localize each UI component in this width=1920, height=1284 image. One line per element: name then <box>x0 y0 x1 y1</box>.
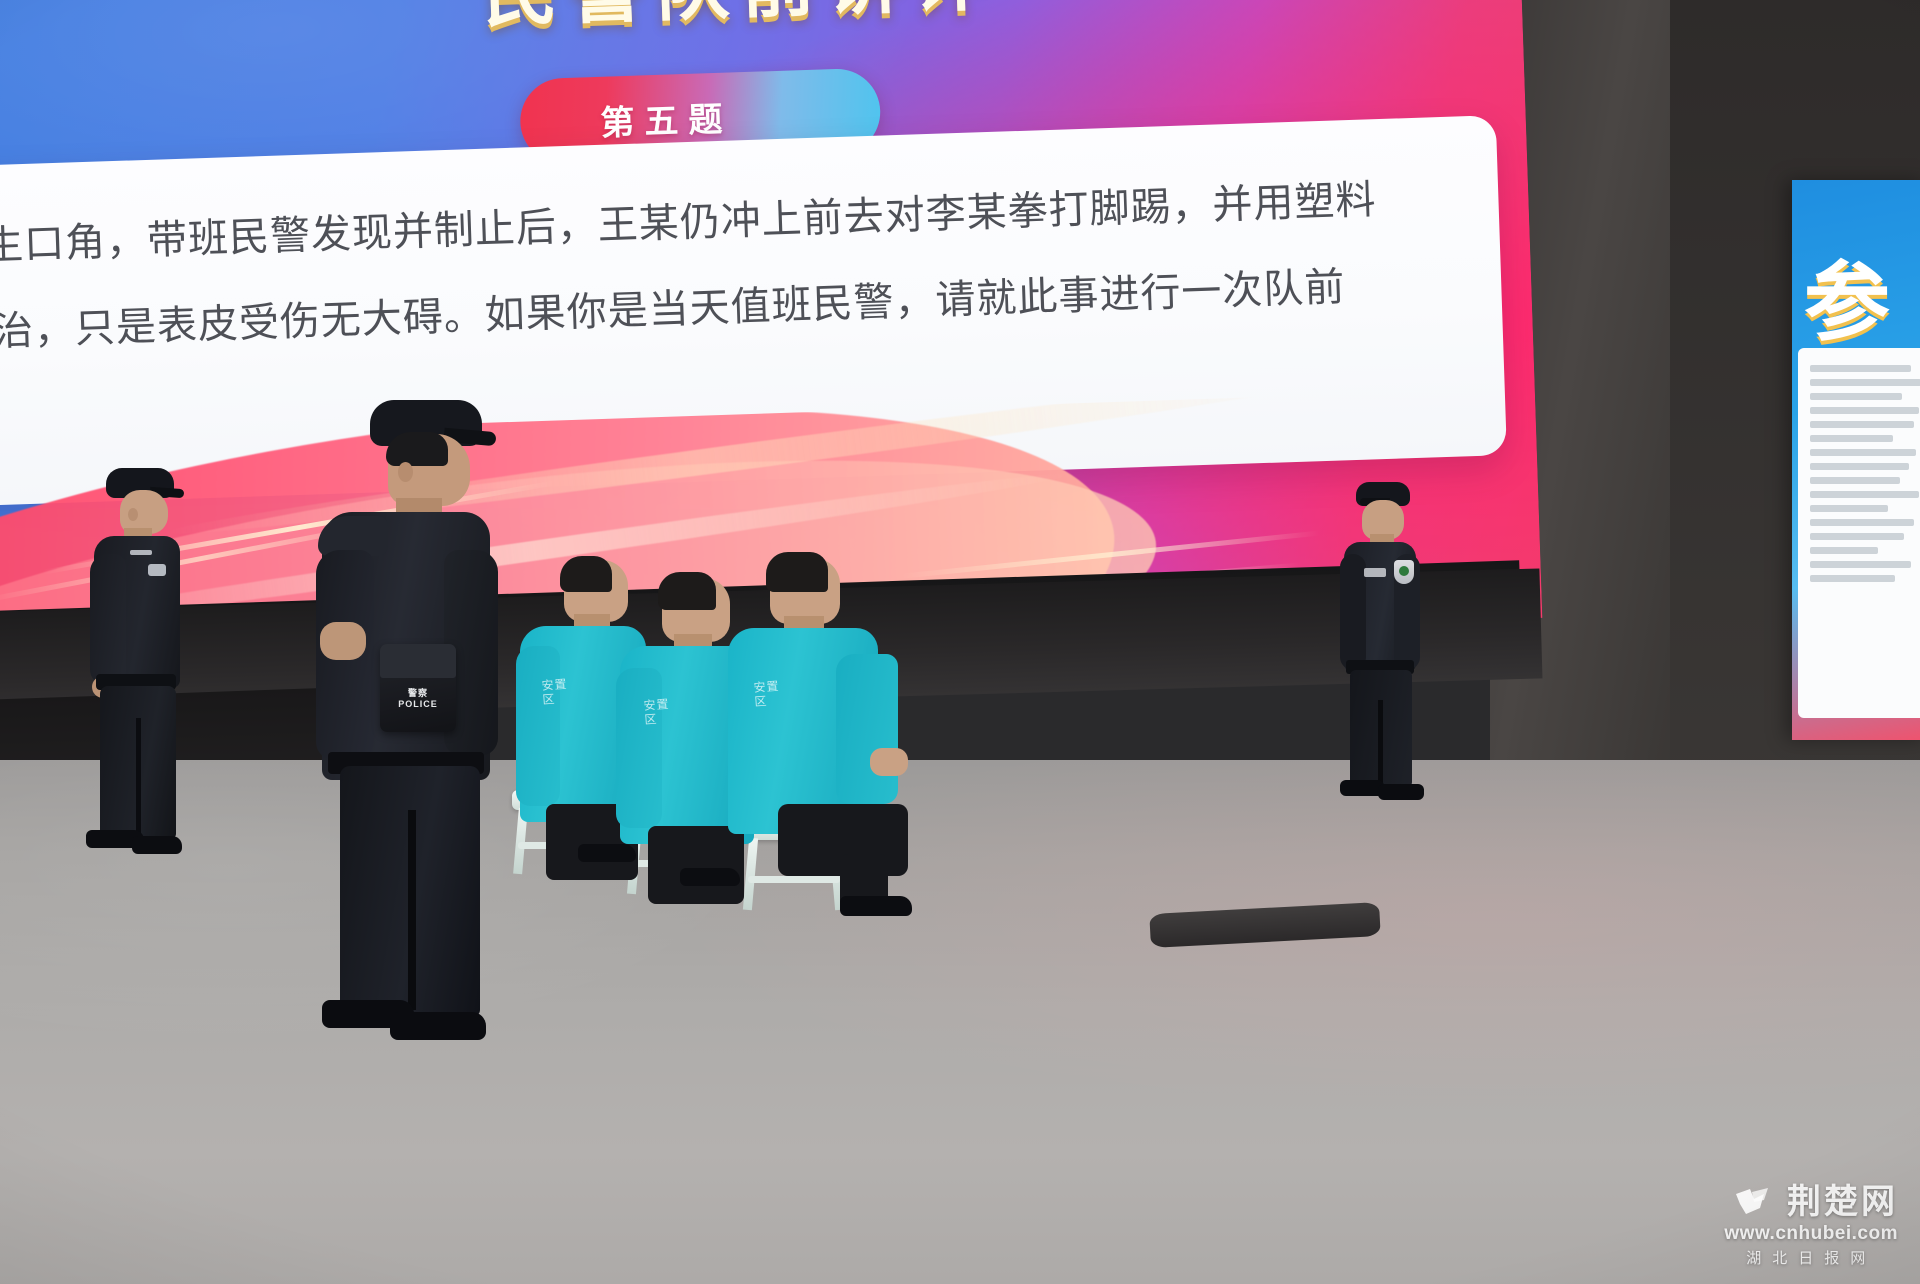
police-belt-pouch: 警察 POLICE <box>380 644 456 732</box>
hair <box>766 552 828 592</box>
name-tag <box>1364 568 1386 577</box>
right-vertical-banner: 参 <box>1792 180 1920 740</box>
arm-left <box>1340 554 1366 670</box>
hair <box>560 556 612 592</box>
banner-text-line <box>1810 547 1878 554</box>
left-standing-police-officer <box>78 468 198 858</box>
clasped-hands <box>320 622 366 660</box>
hair <box>386 432 448 466</box>
pouch-label-cn: 警察 <box>408 688 428 698</box>
right-standing-police-officer <box>1338 482 1426 812</box>
banner-text-line <box>1810 463 1909 470</box>
ear <box>398 462 413 482</box>
banner-text-line <box>1810 519 1914 526</box>
pouch-label-en: POLICE <box>398 699 438 709</box>
watermark-url: www.cnhubei.com <box>1724 1223 1898 1245</box>
banner-text-card <box>1798 348 1920 718</box>
shoe <box>1378 784 1424 800</box>
watermark-brand-row: 荆楚网 <box>1724 1185 1898 1219</box>
slide-text-lines: 员王某在生产车间与李某发生口角，带班民警发现并制止后，王某仍冲上前去对李某拳打脚… <box>0 115 1504 422</box>
watermark: 荆楚网 www.cnhubei.com 湖北日报网 <box>1724 1185 1898 1268</box>
banner-text-line <box>1810 407 1919 414</box>
floor-reflection <box>0 760 1920 1284</box>
banner-character: 参 <box>1804 232 1892 357</box>
watermark-name: 荆楚网 <box>1787 1185 1898 1219</box>
banner-text-line <box>1810 533 1904 540</box>
hand <box>870 748 908 776</box>
banner-text-line <box>1810 505 1888 512</box>
hair <box>658 572 716 610</box>
jacket-back-marking: 安置区 <box>643 697 671 727</box>
banner-text-line <box>1810 421 1914 428</box>
arm <box>616 668 662 828</box>
jacket-back-marking: 安置区 <box>753 679 781 709</box>
banner-text-line <box>1810 435 1893 442</box>
banner-text-line <box>1810 449 1916 456</box>
chest-badge-icon <box>148 564 166 576</box>
question-badge-label: 第五题 <box>600 91 734 144</box>
trouser-split <box>408 810 416 1010</box>
shoe <box>390 1012 486 1040</box>
shoulder-stripe <box>130 550 152 555</box>
pouch-flap <box>380 644 456 678</box>
photo-scene: 民警队前讲评 第五题 员王某在生产车间与李某发生口角，带班民警发现并制止后，王某… <box>0 0 1920 1284</box>
police-shield-icon <box>1394 560 1414 584</box>
cnhubei-logo-icon <box>1734 1186 1778 1218</box>
jacket-back-marking: 安置区 <box>541 677 569 707</box>
shoe <box>132 836 182 854</box>
ear <box>128 508 138 521</box>
arm <box>516 646 560 806</box>
banner-text-line <box>1810 491 1919 498</box>
banner-text-line <box>1810 379 1920 386</box>
trouser-split <box>136 718 141 836</box>
trouser-split <box>1378 700 1383 788</box>
arm <box>836 654 898 804</box>
shoe <box>840 896 912 916</box>
banner-text-line <box>1810 365 1911 372</box>
arm <box>90 554 126 684</box>
banner-text-line <box>1810 561 1911 568</box>
seated-man: 安置区 <box>728 558 928 918</box>
pouch-label: 警察 POLICE <box>384 688 452 710</box>
foreground-police-officer: 警察 POLICE <box>312 400 517 1040</box>
banner-text-line <box>1810 575 1895 582</box>
banner-text-line <box>1810 477 1900 484</box>
banner-text-line <box>1810 393 1902 400</box>
watermark-subtitle: 湖北日报网 <box>1724 1247 1898 1268</box>
